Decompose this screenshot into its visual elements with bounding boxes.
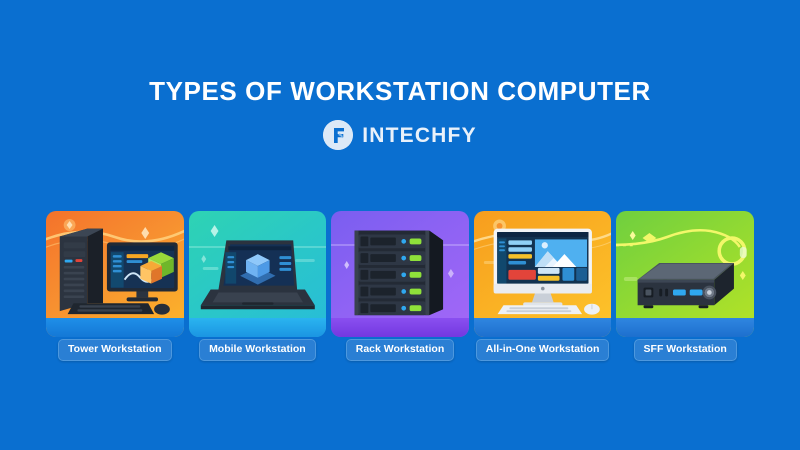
label-pill-tower[interactable]: Tower Workstation: [58, 339, 172, 361]
label-pill-aio[interactable]: All-in-One Workstation: [476, 339, 610, 361]
brand-lockup: INTECHFY: [0, 120, 800, 150]
card-rack[interactable]: [331, 211, 469, 337]
label-slot-tower: Tower Workstation: [46, 339, 184, 361]
label-pill-sff[interactable]: SFF Workstation: [634, 339, 737, 361]
card-shelf-tower: [46, 318, 184, 337]
page-title: TYPES OF WORKSTATION COMPUTER: [0, 78, 800, 104]
label-slot-sff: SFF Workstation: [616, 339, 754, 361]
card-shelf-sff: [616, 318, 754, 337]
label-pill-rack[interactable]: Rack Workstation: [346, 339, 455, 361]
rack-server-icon: [331, 217, 469, 321]
label-slot-mobile: Mobile Workstation: [189, 339, 327, 361]
label-pill-mobile[interactable]: Mobile Workstation: [199, 339, 316, 361]
small-form-factor-pc-icon: [616, 217, 754, 321]
card-shelf-rack: [331, 318, 469, 337]
intechfy-circle-f-logo-icon: [323, 120, 353, 150]
card-tower[interactable]: [46, 211, 184, 337]
card-sff[interactable]: [616, 211, 754, 337]
card-shelf-aio: [474, 318, 612, 337]
header: TYPES OF WORKSTATION COMPUTER INTECHFY: [0, 0, 800, 150]
tower-desktop-computer-icon: [46, 217, 184, 321]
card-aio[interactable]: [474, 211, 612, 337]
laptop-computer-icon: [189, 217, 327, 321]
card-mobile[interactable]: [189, 211, 327, 337]
all-in-one-desktop-icon: [474, 217, 612, 321]
brand-name: INTECHFY: [362, 125, 477, 146]
label-slot-aio: All-in-One Workstation: [474, 339, 612, 361]
workstation-card-row: [46, 211, 754, 337]
workstation-label-row: Tower Workstation Mobile Workstation Rac…: [46, 339, 754, 361]
label-slot-rack: Rack Workstation: [331, 339, 469, 361]
card-shelf-mobile: [189, 318, 327, 337]
